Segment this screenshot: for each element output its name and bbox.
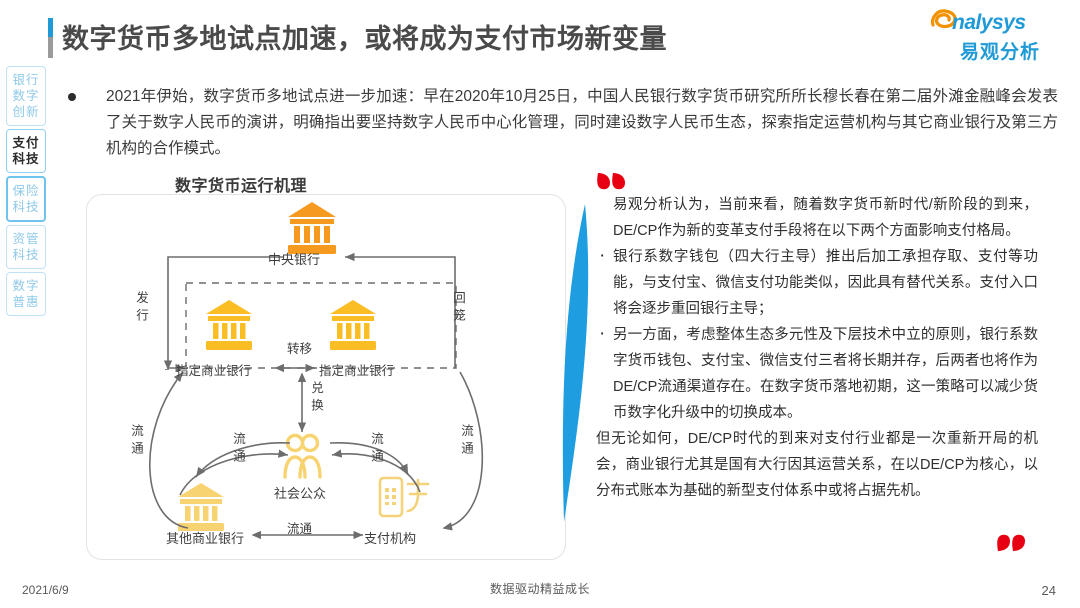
central-bank-icon xyxy=(288,202,336,254)
edge-label-transfer: 转移 xyxy=(287,338,312,357)
edge-label-circulate-mid-right: 流通 xyxy=(367,432,386,467)
edge-label-circulate-bottom: 流通 xyxy=(287,518,312,537)
designated-bank-left-icon xyxy=(206,300,252,350)
edge-label-circulate-left: 流通 xyxy=(127,424,146,459)
commentary-conclusion: 但无论如何，DE/CP时代的到来对支付行业都是一次重新开局的机会，商业银行尤其是… xyxy=(596,426,1038,504)
node-label-payment-institution: 支付机构 xyxy=(364,528,416,547)
edge-label-withdraw: 回笼 xyxy=(449,291,468,326)
public-people-icon xyxy=(285,436,320,478)
payment-institution-icon xyxy=(380,478,428,516)
other-bank-icon xyxy=(178,483,224,531)
commentary-point-2: 另一方面，考虑整体生态多元性及下层技术中立的原则，银行系数字货币钱包、支付宝、微… xyxy=(596,322,1038,426)
node-label-designated-bank-left: 指定商业银行 xyxy=(176,360,251,379)
commentary-intro: 易观分析认为，当前来看，随着数字货币新时代/新阶段的到来，DE/CP作为新的变革… xyxy=(596,192,1038,244)
edge-label-circulate-right: 流通 xyxy=(457,424,476,459)
node-label-other-bank: 其他商业银行 xyxy=(166,528,244,547)
footer-slogan: 数据驱动精益成长 xyxy=(0,580,1080,597)
footer-page-number: 24 xyxy=(1042,583,1056,598)
edge-label-circulate-mid-left: 流通 xyxy=(229,432,248,467)
slide-root: 数字货币多地试点加速，或将成为支付市场新变量 nalysys 易观分析 银行数字… xyxy=(0,0,1080,608)
edge-circulate-left-path xyxy=(150,372,188,528)
designated-bank-right-icon xyxy=(330,300,376,350)
quote-close-icon xyxy=(996,532,1030,554)
node-label-central-bank: 中央银行 xyxy=(268,249,320,268)
commentary-point-1: 银行系数字钱包（四大行主导）推出后加工承担存取、支付等功能，与支付宝、微信支付功… xyxy=(596,244,1038,322)
edge-label-issue: 发行 xyxy=(132,291,151,326)
node-label-public: 社会公众 xyxy=(274,483,326,502)
node-label-designated-bank-right: 指定商业银行 xyxy=(319,360,394,379)
quote-open-icon xyxy=(596,170,630,192)
edge-label-exchange: 兑换 xyxy=(307,381,326,416)
commentary-column: 易观分析认为，当前来看，随着数字货币新时代/新阶段的到来，DE/CP作为新的变革… xyxy=(596,192,1038,504)
